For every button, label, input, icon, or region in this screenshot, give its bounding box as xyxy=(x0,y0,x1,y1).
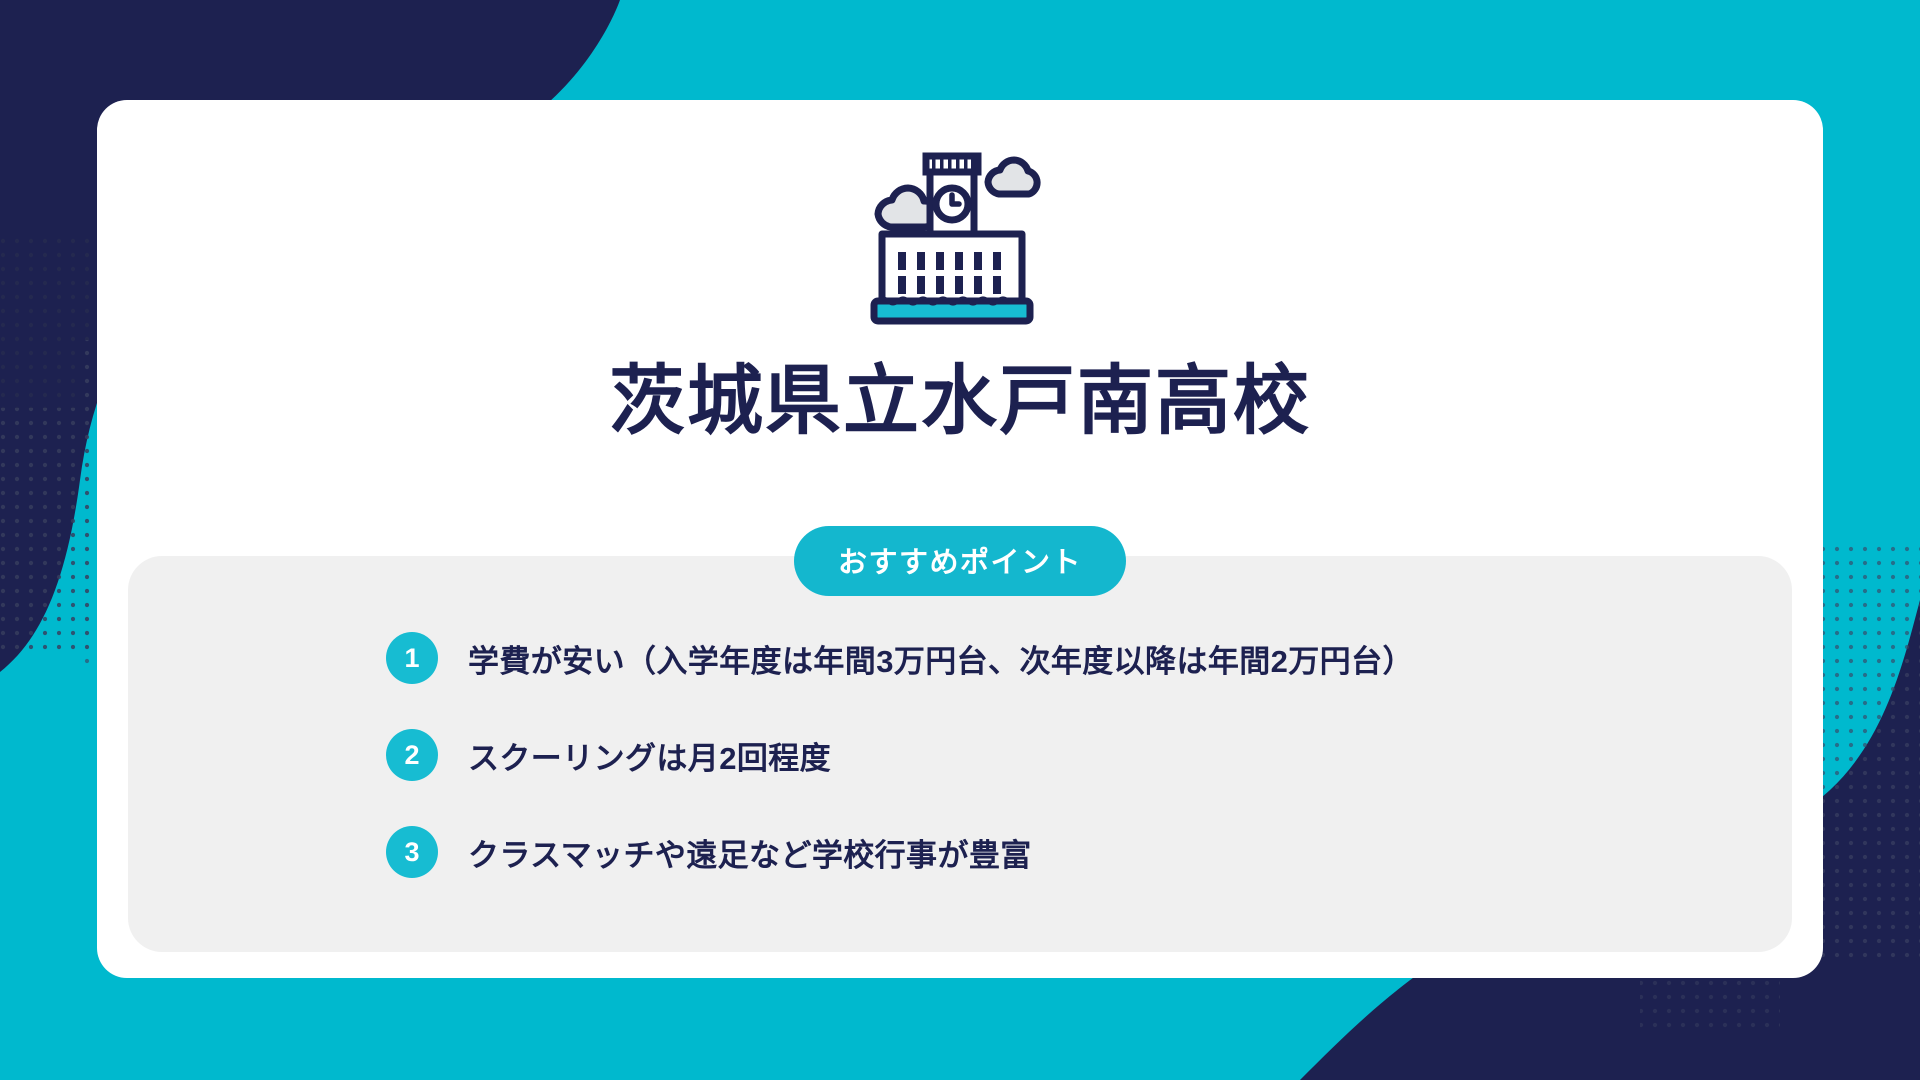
list-item: 2 スクーリングは月2回程度 xyxy=(386,729,1414,781)
point-text: クラスマッチや遠足など学校行事が豊富 xyxy=(468,830,1032,875)
points-list: 1 学費が安い（入学年度は年間3万円台、次年度以降は年間2万円台） 2 スクーリ… xyxy=(386,632,1414,878)
point-number-badge: 2 xyxy=(386,729,438,781)
page-title: 茨城県立水戸南高校 xyxy=(0,360,1920,444)
points-panel: 1 学費が安い（入学年度は年間3万円台、次年度以降は年間2万円台） 2 スクーリ… xyxy=(128,556,1792,952)
recommend-points-badge: おすすめポイント xyxy=(794,526,1126,596)
slide-canvas: 茨城県立水戸南高校 おすすめポイント 1 学費が安い（入学年度は年間3万円台、次… xyxy=(0,0,1920,1080)
point-text: スクーリングは月2回程度 xyxy=(468,733,831,778)
cloud-right-icon xyxy=(988,160,1037,194)
school-building-icon xyxy=(860,142,1060,327)
point-number-badge: 1 xyxy=(386,632,438,684)
dot-texture-cyan-left xyxy=(0,408,80,658)
point-number-badge: 3 xyxy=(386,826,438,878)
list-item: 1 学費が安い（入学年度は年間3万円台、次年度以降は年間2万円台） xyxy=(386,632,1414,684)
list-item: 3 クラスマッチや遠足など学校行事が豊富 xyxy=(386,826,1414,878)
point-text: 学費が安い（入学年度は年間3万円台、次年度以降は年間2万円台） xyxy=(468,636,1414,681)
